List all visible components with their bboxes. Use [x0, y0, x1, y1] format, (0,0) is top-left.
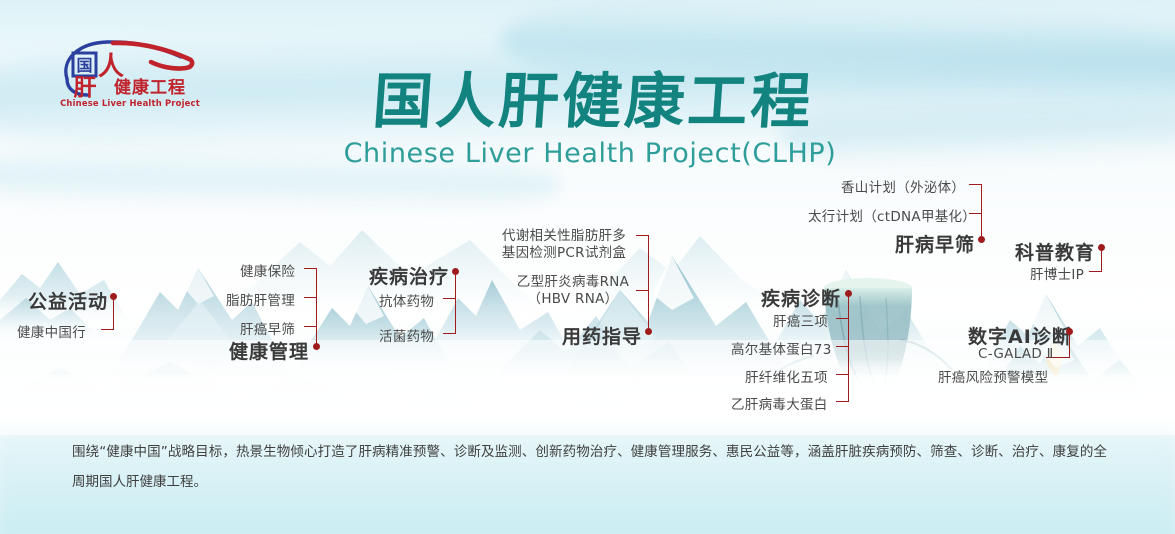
svg-text:健康工程: 健康工程: [114, 77, 186, 98]
sub-label-gp73: 高尔基体蛋白73: [731, 338, 832, 358]
connector-tick-disease-treatment-0: [443, 298, 456, 299]
node-label-early-screening: 肝病早筛: [895, 230, 975, 257]
connector-tick-disease-diagnosis-1: [836, 346, 849, 347]
sub-label-liver-cancer-risk-model: 肝癌风险预警模型: [938, 366, 1048, 386]
sub-label-hbv-rna-line2: （HBV RNA）: [528, 291, 619, 307]
clhp-logo[interactable]: 国 人 肝 健康工程 Chinese Liver Health Project: [55, 33, 205, 111]
connector-line-public-welfare: [113, 296, 114, 330]
connector-tick-disease-diagnosis-2: [836, 374, 849, 375]
connector-tick-disease-diagnosis-0: [836, 318, 849, 319]
sub-label-health-insurance: 健康保险: [240, 260, 295, 280]
sub-label-taihang-plan: 太行计划（ctDNA甲基化）: [808, 205, 976, 225]
sub-label-antibody-drug: 抗体药物: [379, 290, 434, 310]
sub-label-xiangshan-plan: 香山计划（外泌体）: [841, 176, 965, 196]
connector-tick-disease-diagnosis-3: [836, 401, 849, 402]
poster-canvas: 国 人 肝 健康工程 Chinese Liver Health Project …: [0, 0, 1175, 534]
connector-line-health-management: [316, 268, 317, 346]
page-subtitle: Chinese Liver Health Project(CLHP): [340, 138, 840, 169]
connector-line-early-screening: [981, 184, 982, 239]
connector-tick-health-management-0: [304, 268, 317, 269]
sub-label-live-bacteria-drug: 活菌药物: [379, 325, 434, 345]
node-label-digital-ai-diagnosis: 数字AI诊断: [968, 322, 1072, 349]
connector-tick-public-welfare-0: [101, 329, 114, 330]
connector-tick-medication-guidance-0: [636, 235, 649, 236]
page-title: 国人肝健康工程: [337, 64, 837, 136]
description-paragraph: 围绕“健康中国”战略目标，热景生物倾心打造了肝病精准预警、诊断及监测、创新药物治…: [72, 437, 1107, 497]
connector-line-science-education: [1101, 247, 1102, 272]
sub-label-hbv-large-protein: 乙肝病毒大蛋白: [731, 393, 828, 413]
node-label-public-welfare: 公益活动: [28, 287, 108, 314]
sub-label-mafld-pcr-kit: 代谢相关性脂肪肝多 基因检测PCR试剂盒: [494, 228, 634, 262]
node-label-disease-diagnosis: 疾病诊断: [761, 284, 841, 311]
sub-label-liver-cancer-screening: 肝癌早筛: [240, 318, 295, 338]
connector-line-digital-ai-diagnosis: [1069, 331, 1070, 358]
node-label-health-management: 健康管理: [229, 337, 309, 364]
node-label-science-education: 科普教育: [1015, 238, 1095, 265]
connector-tick-medication-guidance-1: [636, 290, 649, 291]
connector-tick-early-screening-0: [969, 184, 982, 185]
sub-label-mafld-pcr-kit-line2: 基因检测PCR试剂盒: [502, 245, 626, 261]
connector-tick-health-management-1: [304, 297, 317, 298]
node-label-medication-guidance: 用药指导: [562, 322, 642, 349]
connector-line-disease-treatment: [455, 271, 456, 334]
svg-text:国: 国: [76, 56, 92, 75]
sub-label-hbv-rna-line1: 乙型肝炎病毒RNA: [517, 274, 629, 290]
sub-label-health-china-tour: 健康中国行: [17, 321, 86, 341]
sub-label-c-galad-2: C-GALAD Ⅱ: [978, 346, 1054, 362]
node-label-disease-treatment: 疾病治疗: [369, 262, 449, 289]
sub-label-hbv-rna: 乙型肝炎病毒RNA （HBV RNA）: [512, 274, 634, 308]
svg-text:Chinese Liver Health Project: Chinese Liver Health Project: [60, 98, 200, 108]
sub-label-mafld-pcr-kit-line1: 代谢相关性脂肪肝多: [502, 228, 626, 244]
sub-label-fatty-liver-management: 脂肪肝管理: [226, 289, 295, 309]
sub-label-liver-fibrosis-five-items: 肝纤维化五项: [745, 366, 828, 386]
sub-label-liver-cancer-three-items: 肝癌三项: [773, 310, 828, 330]
connector-tick-health-management-2: [304, 326, 317, 327]
svg-text:国人肝健康工程: 国人肝健康工程: [370, 67, 816, 136]
connector-tick-disease-treatment-1: [443, 333, 456, 334]
connector-line-disease-diagnosis: [848, 293, 849, 402]
sub-label-liver-doctor-ip: 肝博士IP: [1030, 263, 1084, 283]
connector-tick-science-education-0: [1089, 271, 1102, 272]
connector-line-medication-guidance: [648, 235, 649, 331]
